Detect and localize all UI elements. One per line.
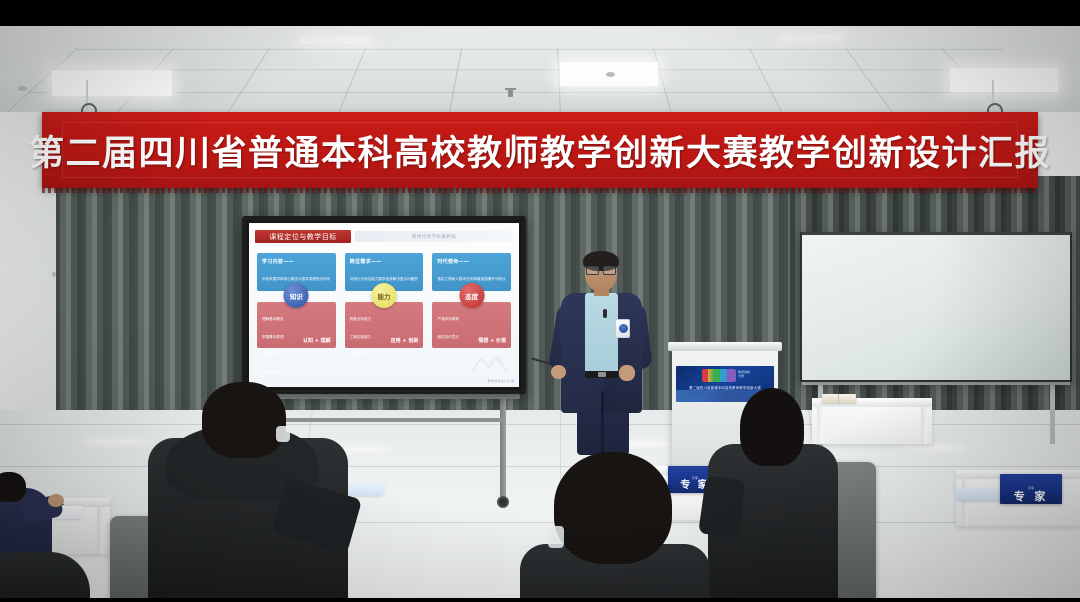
audience-foreground-left-body xyxy=(0,552,90,602)
ceiling-light-1 xyxy=(52,70,172,96)
slide-title-chip: 课程定位与教学目标 xyxy=(255,230,351,243)
slide-red-box-2: 具备分析能力 工程实践能力 创新设计能力 应用 + 创新 xyxy=(345,302,424,348)
banner-fringe xyxy=(42,188,1038,193)
slide-blue-title-2: 岗位需求—— xyxy=(350,258,419,265)
slide-column-knowledge: 学习内容—— 系统掌握学科核心概念与基本原理知识体系 理解基本概念 掌握基本原理… xyxy=(257,253,336,348)
ceiling-light-3 xyxy=(950,68,1058,92)
podium-top-surface xyxy=(668,342,782,351)
slide-header-right-text: 新时代的学科素养观 xyxy=(412,234,456,240)
slide-blue-title-3: 时代使命—— xyxy=(437,258,506,265)
letterbox-bottom xyxy=(0,598,1080,602)
side-table-leg-right xyxy=(921,407,927,444)
ceiling-light-5 xyxy=(780,34,842,41)
event-banner: 第二届四川省普通本科高校教师教学创新大赛教学创新设计汇报 xyxy=(42,112,1038,188)
presenter-badge xyxy=(615,319,630,338)
podium-logo-subtext: 教学创新大赛 xyxy=(738,370,750,378)
audience-center-left xyxy=(148,382,348,602)
presenter-shirt xyxy=(585,293,618,373)
ceiling xyxy=(0,26,1080,118)
slide-red-tag-1: 认知 + 理解 xyxy=(303,337,331,344)
slide-column-ability: 岗位需求—— 对接行业岗位能力要求培养解决复杂问题的综合能力 具备分析能力 工程… xyxy=(345,253,424,348)
water-bottle-left xyxy=(72,468,85,502)
slide-circle-knowledge: 知识 xyxy=(284,283,309,308)
slide-red-box-1: 理解基本概念 掌握基本原理 熟悉基本方法 构建知识体系 认知 + 理解 xyxy=(257,302,336,348)
slide-blue-title-1: 学习内容—— xyxy=(262,258,331,265)
banner-inner-frame: 第二届四川省普通本科高校教师教学创新大赛教学创新设计汇报 xyxy=(62,122,1018,178)
audience-center-left-mask xyxy=(276,426,290,442)
audience-center-left-head xyxy=(202,382,286,458)
audience-center-mask xyxy=(548,526,564,548)
tv-stand-leg-right xyxy=(500,396,506,500)
presenter-hand-right xyxy=(619,365,635,381)
presenter xyxy=(555,253,647,453)
presenter-hand-left xyxy=(551,365,566,379)
placard-expert-right: 评审 专 家 xyxy=(1000,474,1062,504)
slide-header-bar: 新时代的学科素养观 xyxy=(355,231,513,242)
water-bottle-rear-left xyxy=(376,456,389,490)
whiteboard[interactable] xyxy=(800,232,1072,382)
slide-header: 课程定位与教学目标 新时代的学科素养观 xyxy=(255,230,513,243)
microphone-icon xyxy=(603,309,607,318)
slide-canvas: 课程定位与教学目标 新时代的学科素养观 学习内容—— 系统掌握学科核心概念与基本… xyxy=(249,223,519,387)
slide-red-desc-1: 理解基本概念 掌握基本原理 熟悉基本方法 构建知识体系 xyxy=(262,317,284,375)
judge-table-right-leg-l xyxy=(962,479,968,526)
sprinkler-icon xyxy=(508,88,513,97)
placard-right-main: 专 家 xyxy=(1014,491,1049,502)
presentation-display[interactable]: 课程定位与教学目标 新时代的学科素养观 学习内容—— 系统掌握学科核心概念与基本… xyxy=(242,216,526,394)
slide-red-tag-2: 应用 + 创新 xyxy=(391,337,419,344)
conference-room-scene: 第二届四川省普通本科高校教师教学创新大赛教学创新设计汇报 课程定位与教学目标 新… xyxy=(0,0,1080,602)
letterbox-top xyxy=(0,0,1080,26)
slide-blue-desc-1: 系统掌握学科核心概念与基本原理知识体系 xyxy=(262,277,330,281)
slide-red-tag-3: 情感 + 价值 xyxy=(478,337,506,344)
smoke-detector-icon-2 xyxy=(18,86,27,91)
audience-left-hand xyxy=(48,494,64,507)
slide-columns: 学习内容—— 系统掌握学科核心概念与基本原理知识体系 理解基本概念 掌握基本原理… xyxy=(257,253,511,348)
floor-light-reflection-4 xyxy=(900,444,968,451)
slide-red-desc-3: 严谨求实精神 团队协作意识 xyxy=(437,317,459,339)
slide-footer-text: 教学创新设计汇报 xyxy=(488,379,514,383)
audience-center xyxy=(520,452,710,602)
competition-logo-icon xyxy=(702,369,736,382)
audience-right xyxy=(708,392,838,602)
judge-table-left-leg-r xyxy=(97,507,103,554)
floor-light-reflection-1 xyxy=(80,438,150,446)
audience-center-head xyxy=(554,452,672,564)
banner-title-text: 第二届四川省普通本科高校教师教学创新大赛教学创新设计汇报 xyxy=(29,125,1051,176)
ceiling-light-4 xyxy=(300,36,370,44)
audience-foreground-left xyxy=(0,552,90,602)
banner-hook-left xyxy=(86,80,88,114)
tv-stand-caster-right xyxy=(497,496,509,508)
audience-left-head xyxy=(0,472,26,502)
slide-watermark-icon xyxy=(469,353,509,373)
slide-red-desc-2: 具备分析能力 工程实践能力 创新设计能力 xyxy=(350,317,372,357)
smoke-detector-icon xyxy=(606,72,615,77)
slide-circle-attitude: 态度 xyxy=(459,283,484,308)
audience-right-hair xyxy=(740,388,804,466)
glasses-icon xyxy=(586,266,616,273)
banner-hook-right xyxy=(992,80,994,114)
slide-red-box-3: 严谨求实精神 团队协作意识 情感 + 价值 xyxy=(432,302,511,348)
slide-circle-ability: 能力 xyxy=(372,283,397,308)
whiteboard-leg-right xyxy=(1050,378,1055,444)
presenter-belt xyxy=(585,371,618,378)
slide-column-attitude: 时代使命—— 落实立德树人根本任务厚植家国情怀与职业素养 严谨求实精神 团队协作… xyxy=(432,253,511,348)
